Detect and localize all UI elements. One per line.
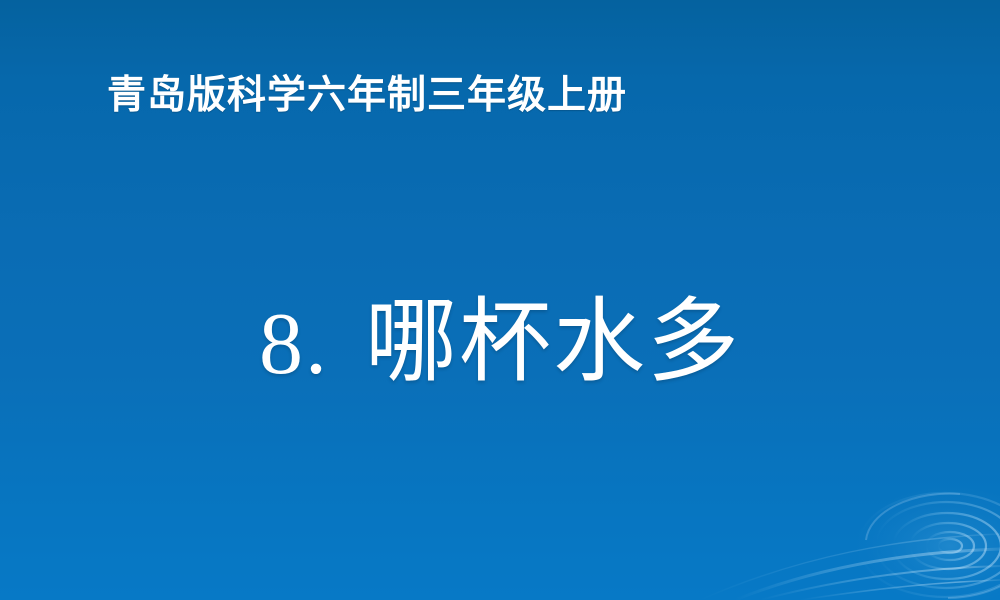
slide-title-text: 哪杯水多: [365, 288, 741, 395]
slide-subtitle: 青岛版科学六年制三年级上册: [107, 76, 627, 117]
slide-title-container: 8.哪杯水多: [0, 296, 1000, 389]
slide-title-number: 8.: [259, 296, 329, 393]
presentation-slide: 青岛版科学六年制三年级上册 8.哪杯水多: [0, 0, 1000, 600]
slide-title: 8.哪杯水多: [259, 296, 741, 389]
